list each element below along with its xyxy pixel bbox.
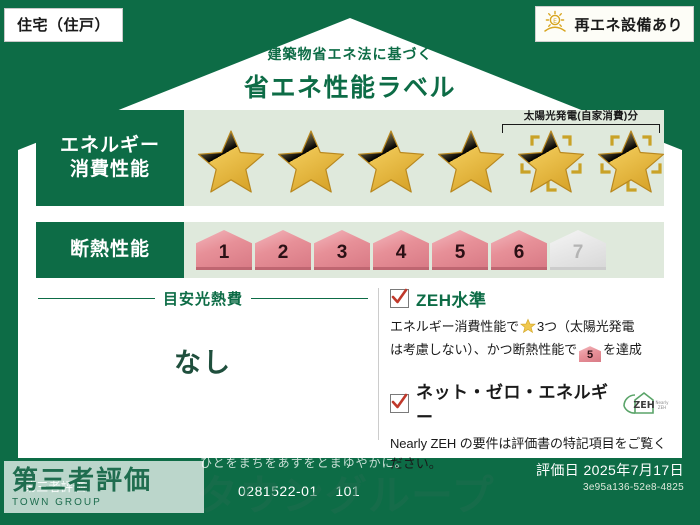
evaluation-uid: 3e95a136-52e8-4825 <box>536 482 684 493</box>
energy-label-line2: 消費性能 <box>70 158 150 182</box>
energy-label-line1: エネルギー <box>60 134 160 158</box>
zeh-standard-header: ZEH水準 <box>390 286 670 311</box>
room-no: 101 <box>335 483 360 499</box>
zeh-standard-description: エネルギー消費性能で3つ（太陽光発電は考慮しない）、かつ断熱性能で5を達成 <box>390 317 670 362</box>
energy-label-screenshot: 住宅（住戸） E 再エネ設備あり 建築物省エネ法に基 <box>0 0 700 525</box>
utility-cost-block: 目安光熱費 なし <box>38 288 368 380</box>
zeh-standard-title: ZEH水準 <box>416 286 487 311</box>
svg-text:ZEH: ZEH <box>658 405 666 410</box>
utility-cost-heading: 目安光熱費 <box>38 288 368 309</box>
energy-performance-row: エネルギー 消費性能 太陽光発電(自家消費)分 <box>36 110 664 206</box>
insulation-grade-7: 7 <box>550 230 606 270</box>
zeh-standard-checkbox[interactable] <box>390 289 409 308</box>
footer: 第三者評価 0281522-01 101 評価日 2025年7月17日 3e95… <box>0 459 700 525</box>
star-3 <box>352 121 430 195</box>
zeh-desc-d: を達成 <box>603 342 642 357</box>
star-1 <box>192 121 270 195</box>
page-title: 省エネ性能ラベル <box>0 68 700 104</box>
star-4 <box>432 121 510 195</box>
insulation-grade-4: 4 <box>373 230 429 270</box>
footer-note: 第三者評価 <box>24 478 86 495</box>
footer-building-number: 0281522-01 101 <box>238 483 360 499</box>
net-zero-header: ネット・ゼロ・エネルギー ZEH Nearly ZEH <box>390 378 670 428</box>
insulation-grade-panel: 1234567 <box>184 222 664 278</box>
dwelling-type-tag: 住宅（住戸） <box>4 8 123 42</box>
zeh-desc-c: は考慮しない）、かつ断熱性能で <box>390 342 577 357</box>
net-zero-checkbox[interactable] <box>390 394 409 413</box>
svg-text:ZEH: ZEH <box>633 400 654 411</box>
zeh-section: ZEH水準 エネルギー消費性能で3つ（太陽光発電は考慮しない）、かつ断熱性能で5… <box>390 286 670 474</box>
zeh-desc-a: エネルギー消費性能で <box>390 319 519 334</box>
building-no: 0281522-01 <box>238 483 318 499</box>
utility-cost-value: なし <box>38 341 368 380</box>
svg-text:E: E <box>554 18 558 25</box>
evaluation-date-line: 評価日 2025年7月17日 <box>536 460 684 480</box>
energy-stars-panel: 太陽光発電(自家消費)分 <box>184 110 664 206</box>
insulation-label-text: 断熱性能 <box>70 238 150 262</box>
insulation-grade-3: 3 <box>314 230 370 270</box>
insulation-performance-label: 断熱性能 <box>36 222 184 278</box>
star-2 <box>272 121 350 195</box>
insulation-performance-row: 断熱性能 1234567 <box>36 222 664 278</box>
net-zero-title: ネット・ゼロ・エネルギー <box>416 378 611 428</box>
evaluation-date-label: 評価日 <box>536 462 579 478</box>
rule-right <box>251 298 368 299</box>
rule-left <box>38 298 155 299</box>
title-subtitle: 建築物省エネ法に基づく <box>0 44 700 64</box>
evaluation-date-value: 2025年7月17日 <box>583 462 684 478</box>
section-divider <box>378 288 379 440</box>
inline-star-icon <box>520 318 536 340</box>
inline-grade-badge: 5 <box>579 346 601 362</box>
energy-performance-label: エネルギー 消費性能 <box>36 110 184 206</box>
zeh-logo-icon: ZEH Nearly ZEH <box>622 390 670 416</box>
insulation-grade-5: 5 <box>432 230 488 270</box>
footer-evaluation: 評価日 2025年7月17日 3e95a136-52e8-4825 <box>536 460 684 493</box>
solar-bracket <box>502 124 660 133</box>
solar-annotation: 太陽光発電(自家消費)分 <box>502 108 660 133</box>
utility-cost-title: 目安光熱費 <box>163 288 243 309</box>
insulation-grade-2: 2 <box>255 230 311 270</box>
title-block: 建築物省エネ法に基づく 省エネ性能ラベル <box>0 44 700 104</box>
insulation-grade-6: 6 <box>491 230 547 270</box>
solar-annotation-label: 太陽光発電(自家消費)分 <box>502 108 660 123</box>
renewable-equipment-badge: E 再エネ設備あり <box>535 6 694 42</box>
zeh-desc-b: 3つ（太陽光発電 <box>537 319 634 334</box>
renewable-badge-label: 再エネ設備あり <box>574 14 683 35</box>
insulation-grade-1: 1 <box>196 230 252 270</box>
sun-icon: E <box>542 10 568 39</box>
